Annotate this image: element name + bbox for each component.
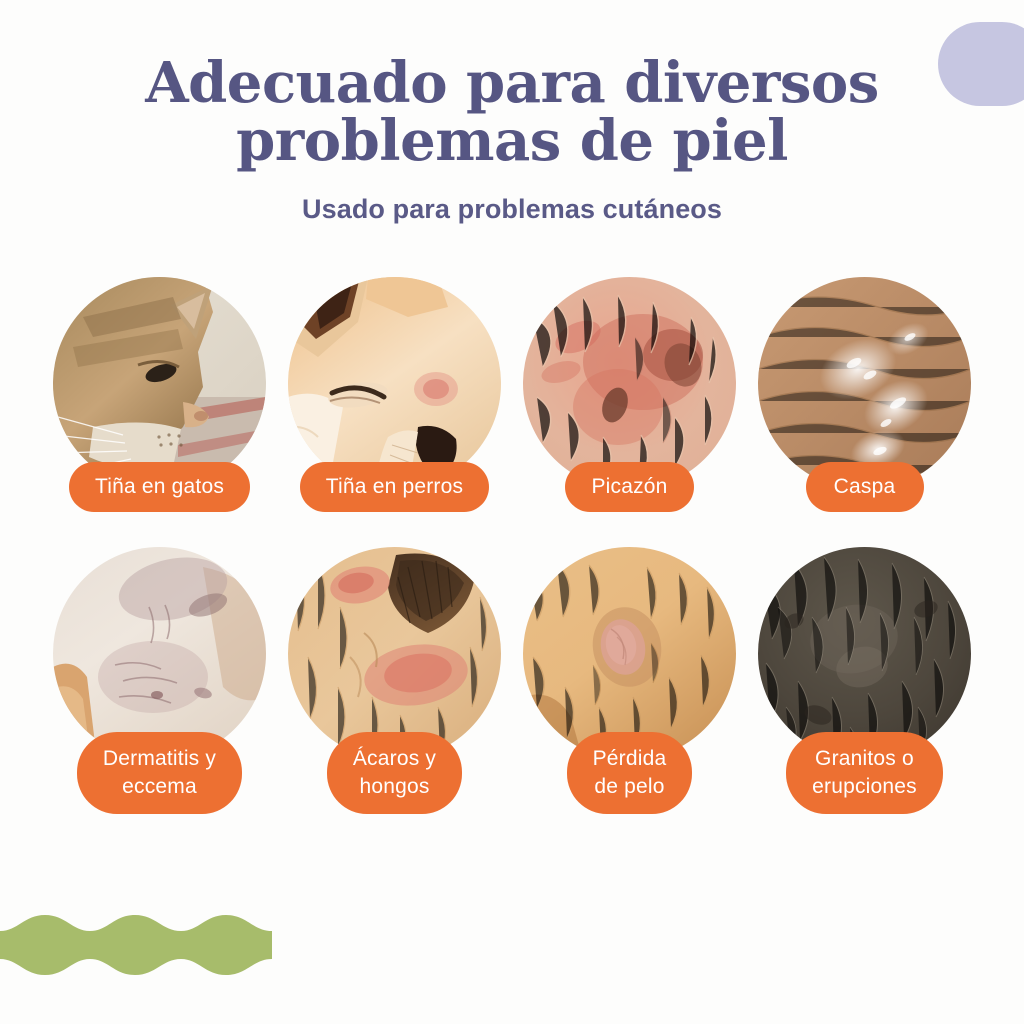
header: Adecuado para diversos problemas de piel… [0, 0, 1024, 225]
condition-label[interactable]: Ácaros y hongos [327, 732, 462, 814]
condition-label[interactable]: Tiña en perros [300, 462, 489, 512]
dog-face-ringworm-photo [288, 277, 501, 490]
condition-label[interactable]: Pérdida de pelo [567, 732, 693, 814]
page-subtitle: Usado para problemas cutáneos [0, 194, 1024, 225]
cat-face-ringworm-photo [53, 277, 266, 490]
golden-fur-bald-patch-photo [523, 547, 736, 760]
grid-item[interactable]: Caspa [747, 277, 982, 512]
condition-label[interactable]: Tiña en gatos [69, 462, 250, 512]
grid-item[interactable]: Dermatitis y eccema [42, 547, 277, 814]
green-wave-shape [0, 911, 272, 979]
brown-fur-dandruff-photo [758, 277, 971, 490]
grid-item[interactable]: Tiña en perros [277, 277, 512, 512]
red-irritated-skin-photo [523, 277, 736, 490]
grid-item[interactable]: Tiña en gatos [42, 277, 277, 512]
condition-label[interactable]: Caspa [806, 462, 924, 512]
dark-fur-bumps-photo [758, 547, 971, 760]
tan-fur-mites-patch-photo [288, 547, 501, 760]
condition-label[interactable]: Picazón [565, 462, 693, 512]
condition-grid: Tiña en gatos [0, 277, 1024, 814]
condition-label[interactable]: Dermatitis y eccema [77, 732, 242, 814]
grid-item[interactable]: Ácaros y hongos [277, 547, 512, 814]
page-title: Adecuado para diversos problemas de piel [0, 54, 1024, 170]
grid-item[interactable]: Pérdida de pelo [512, 547, 747, 814]
grid-item[interactable]: Granitos o erupciones [747, 547, 982, 814]
grid-item[interactable]: Picazón [512, 277, 747, 512]
pale-belly-dermatitis-photo [53, 547, 266, 760]
condition-label[interactable]: Granitos o erupciones [786, 732, 943, 814]
